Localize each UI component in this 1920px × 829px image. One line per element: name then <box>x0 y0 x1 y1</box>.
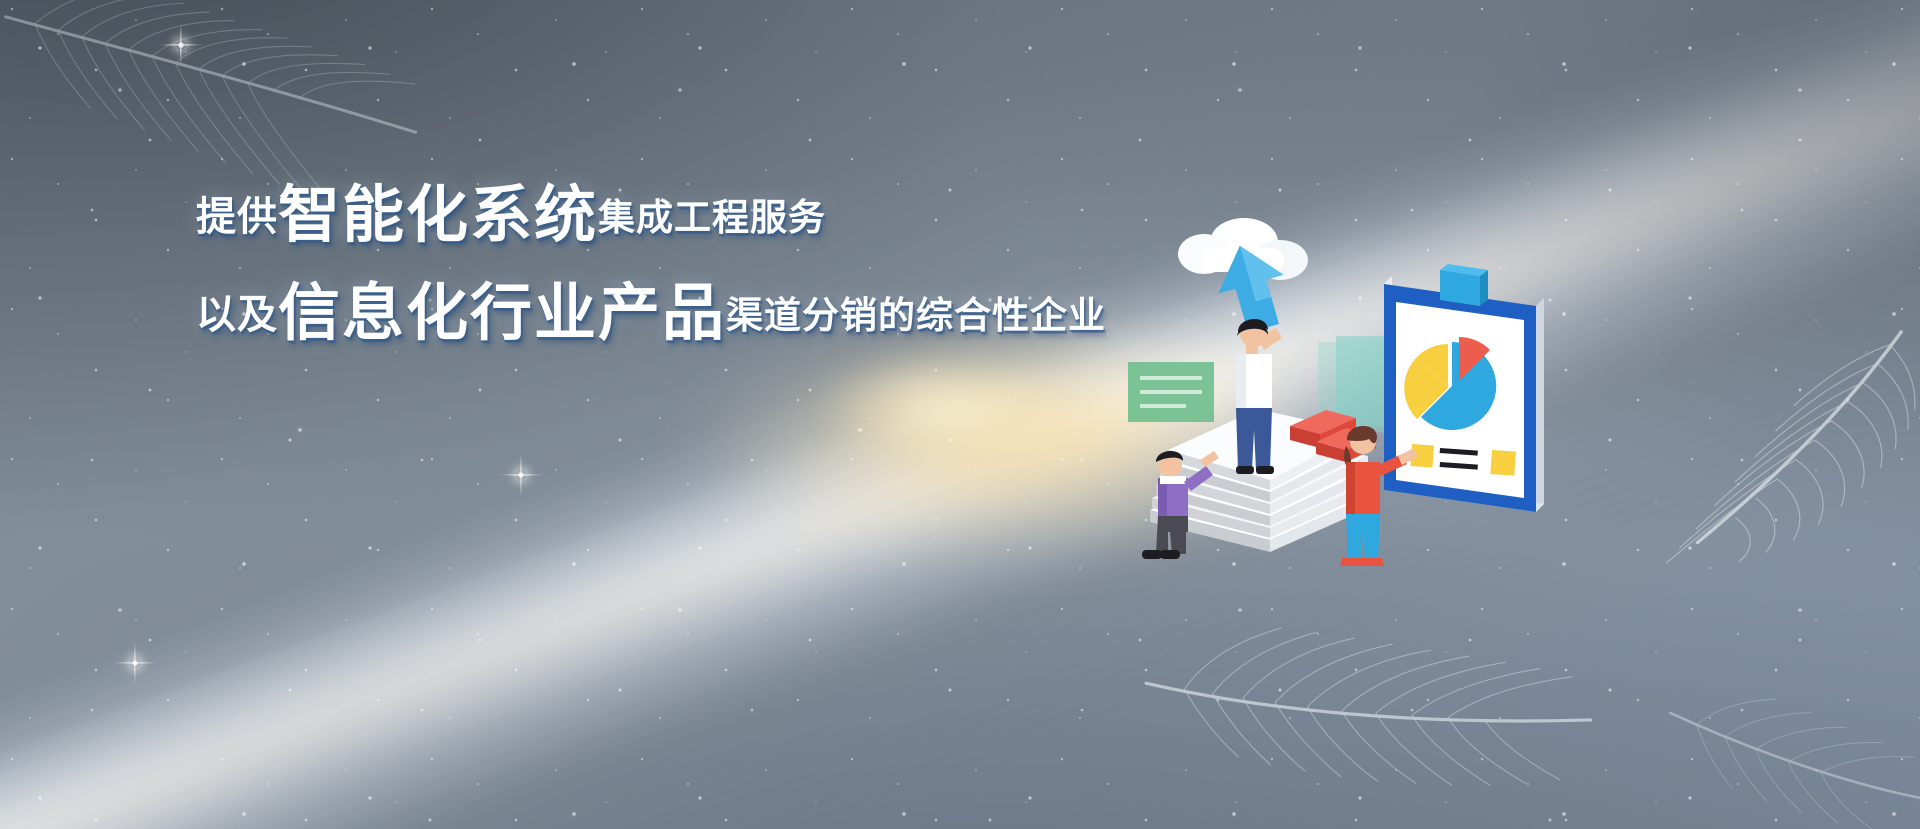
feather-bottom-right-icon <box>1631 670 1920 829</box>
starfield-medium <box>0 0 1920 829</box>
sparkle-star-top-left <box>158 22 204 68</box>
headline-line-2: 以及信息化行业产品渠道分销的综合性企业 <box>196 280 1076 342</box>
galaxy-core-bright <box>787 340 1094 473</box>
headline-line1-seg3: 集成工程服务 <box>598 199 826 236</box>
sparkle-star-center <box>498 452 544 498</box>
clipboard-icon <box>1384 264 1544 512</box>
vignette-overlay <box>0 0 1920 829</box>
feather-bottom-center-icon <box>1084 586 1635 829</box>
feather-right-icon <box>1551 286 1920 583</box>
clipboard-clip-icon <box>1440 264 1488 306</box>
business-analytics-illustration <box>1140 210 1560 570</box>
sky-background <box>0 0 1920 829</box>
headline-line-1: 提供智能化系统集成工程服务 <box>196 182 1076 244</box>
green-card-icon <box>1128 362 1214 422</box>
headline-block: 提供智能化系统集成工程服务 以及信息化行业产品渠道分销的综合性企业 <box>196 182 1076 342</box>
headline-line1-seg2: 智能化系统 <box>278 184 598 246</box>
headline-line2-seg3: 渠道分销的综合性企业 <box>726 297 1106 334</box>
starfield-large <box>0 0 1920 829</box>
starfield-small <box>0 0 1920 829</box>
headline-line1-seg1: 提供 <box>196 197 278 237</box>
sparkle-star-bottom-left <box>112 640 158 686</box>
headline-line2-seg2: 信息化行业产品 <box>278 282 726 344</box>
galaxy-band <box>0 0 1920 829</box>
headline-line2-seg1: 以及 <box>196 295 278 335</box>
hero-banner: 提供智能化系统集成工程服务 以及信息化行业产品渠道分销的综合性企业 <box>0 0 1920 829</box>
